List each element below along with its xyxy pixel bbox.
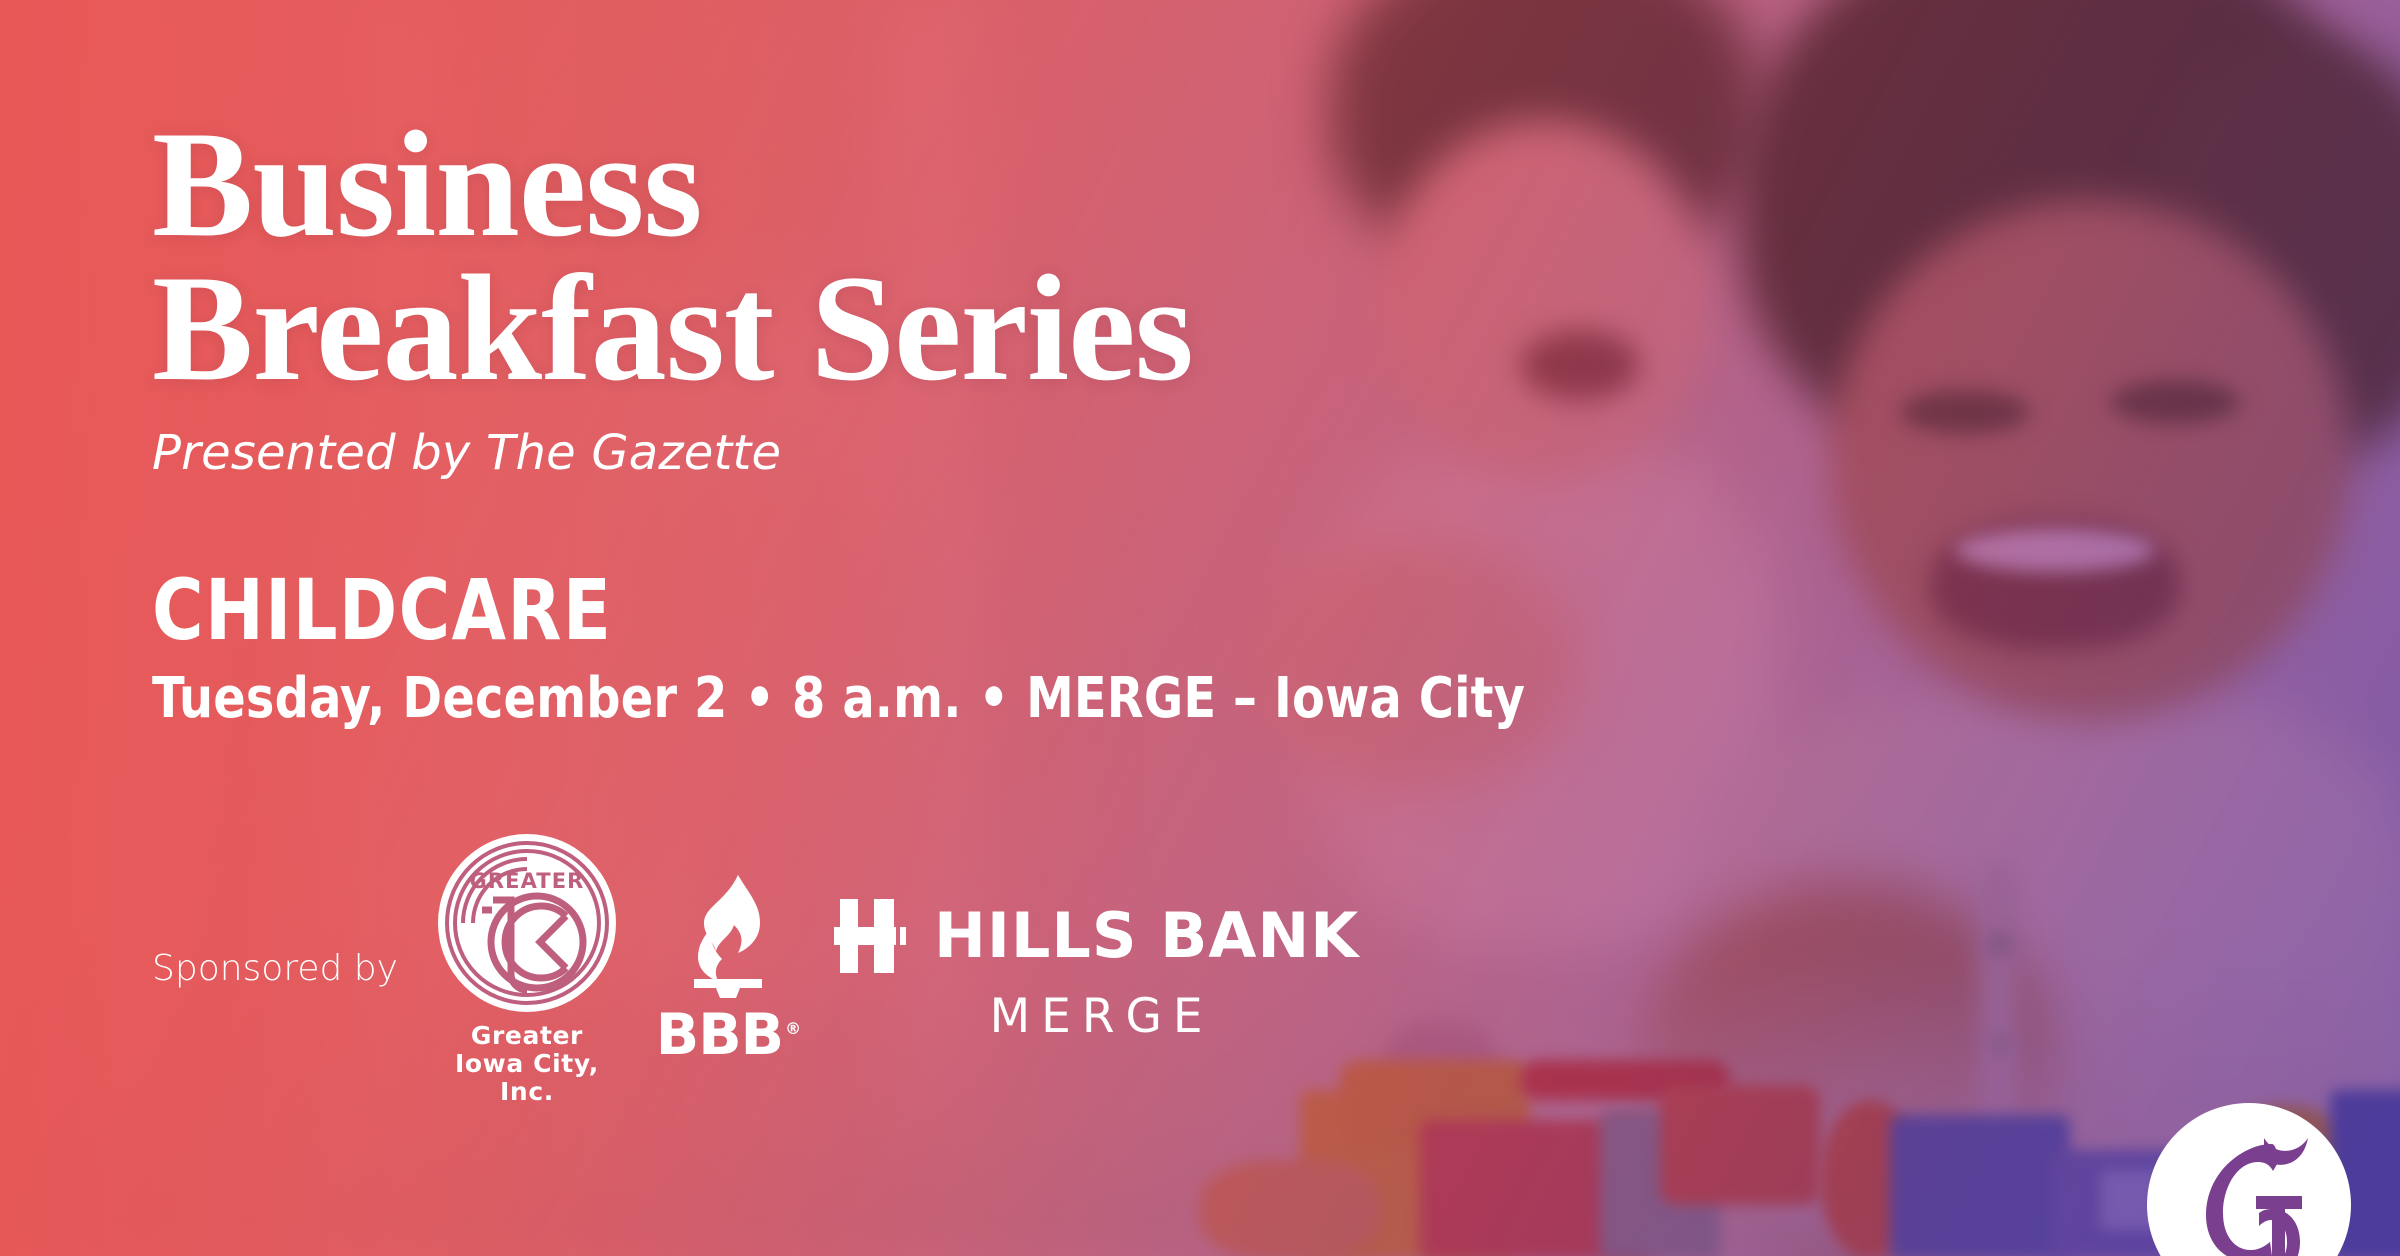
page-title: Business Breakfast Series	[152, 0, 1597, 401]
gic-name-line-2: Iowa City, Inc.	[432, 1050, 622, 1106]
registered-mark: ®	[785, 1019, 800, 1038]
title-line-1: Business	[152, 100, 702, 268]
hills-h-mark-icon	[834, 897, 910, 975]
gazette-logo-icon[interactable]	[2144, 1100, 2354, 1256]
sponsor-strip: Sponsored by GREATER	[152, 832, 1597, 1106]
sponsor-bbb[interactable]: BBB®	[668, 873, 788, 1064]
event-details: Tuesday, December 2 • 8 a.m. • MERGE – I…	[152, 666, 1525, 732]
promotional-banner: Business Breakfast Series Presented by T…	[0, 0, 2400, 1256]
presented-by-line: Presented by The Gazette	[152, 427, 1597, 480]
banner-content: Business Breakfast Series Presented by T…	[152, 0, 1597, 1106]
gic-name-line-1: Greater	[432, 1022, 622, 1050]
bbb-letters: BBB	[656, 1002, 783, 1068]
title-line-2: Breakfast Series	[152, 256, 1597, 400]
sponsor-greater-iowa-city[interactable]: GREATER Greater Iowa City, Inc.	[432, 832, 622, 1106]
greater-ic-logo-icon: GREATER	[436, 832, 618, 1014]
merge-wordmark: MERGE	[980, 993, 1214, 1040]
hills-bank-row: HILLS BANK	[834, 897, 1359, 975]
svg-text:GREATER: GREATER	[469, 869, 584, 893]
sponsor-greater-iowa-city-name: Greater Iowa City, Inc.	[432, 1022, 622, 1106]
bbb-wordmark: BBB®	[656, 1007, 800, 1064]
sponsored-by-label: Sponsored by	[152, 948, 398, 989]
event-topic: CHILDCARE	[152, 568, 1496, 652]
hills-bank-wordmark: HILLS BANK	[934, 905, 1359, 967]
torch-icon	[676, 873, 780, 1005]
sponsor-hills-bank[interactable]: HILLS BANK MERGE	[834, 897, 1359, 1040]
